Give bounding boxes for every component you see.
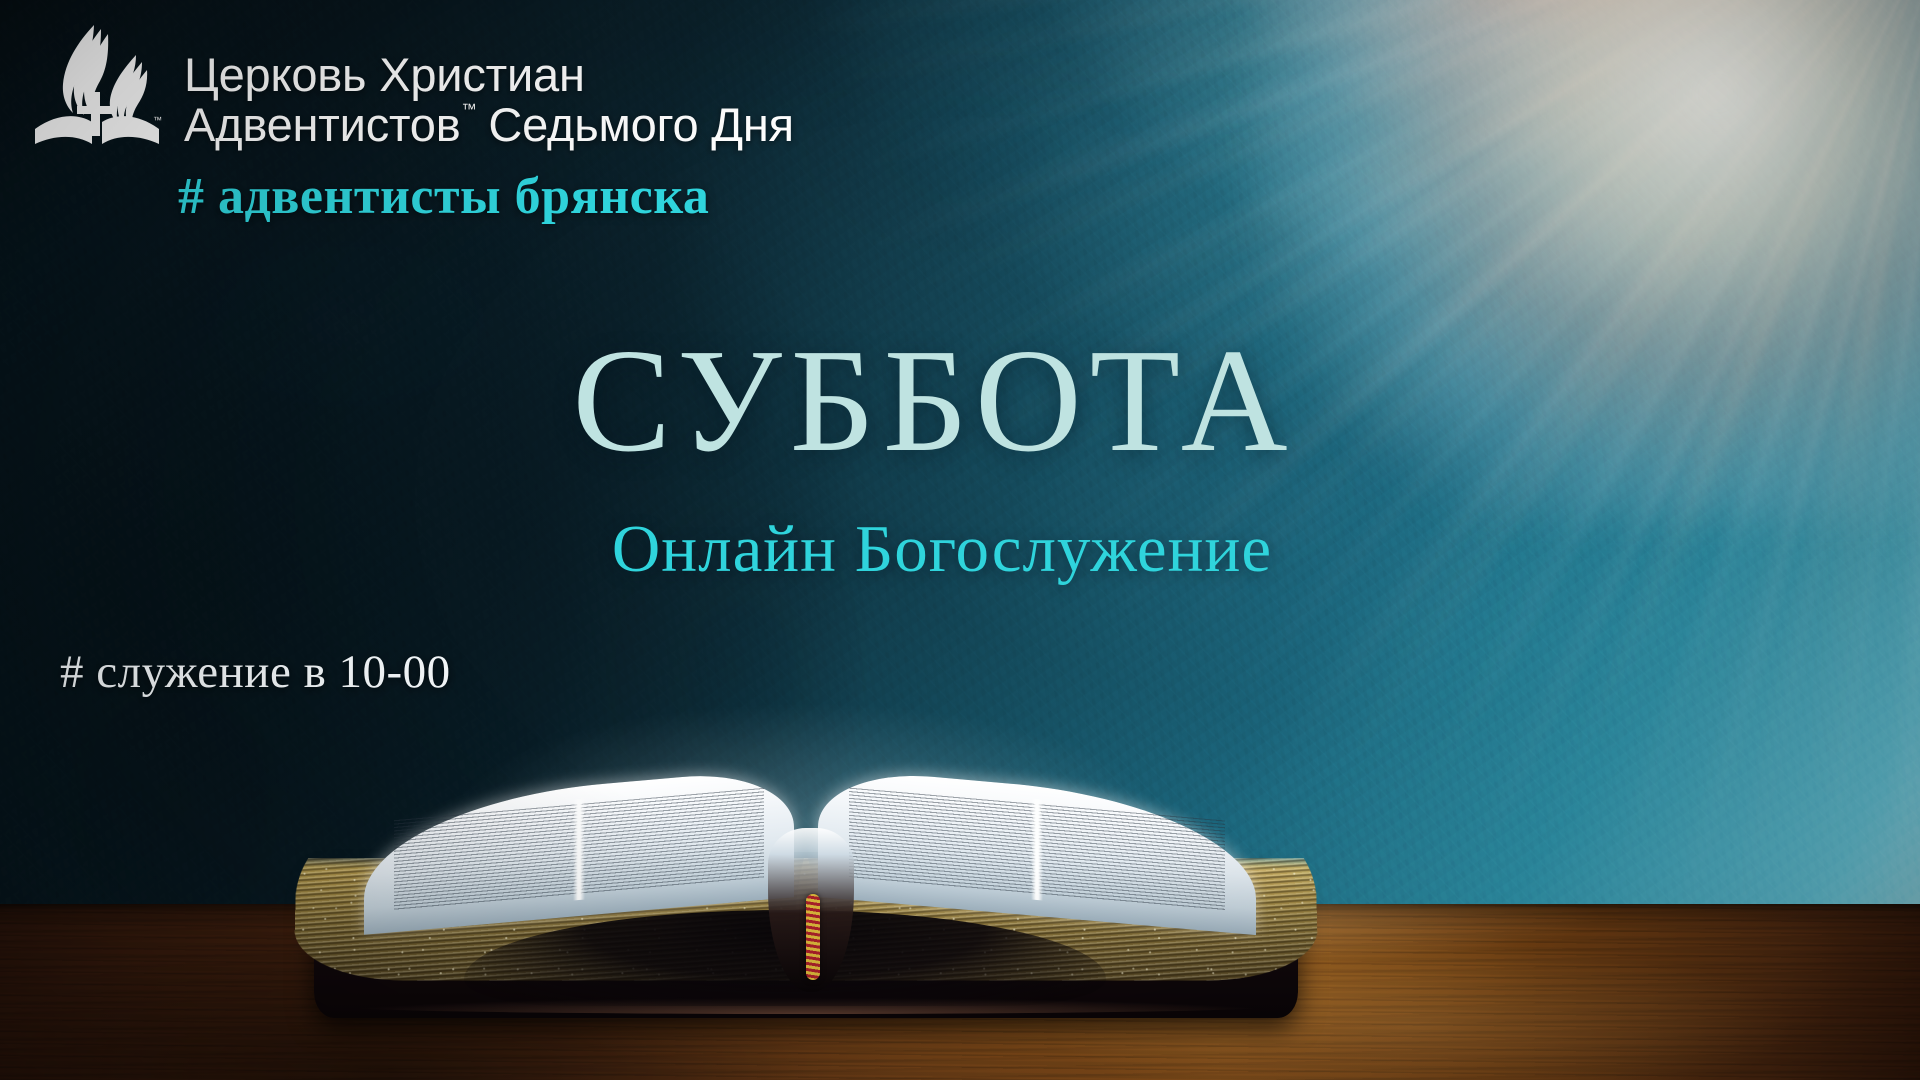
page-title: СУББОТА	[0, 316, 1920, 486]
church-name-line-2-b: Седьмого Дня	[476, 98, 794, 151]
poster-content: ™ Церковь Христиан Адвентистов™ Седьмого…	[0, 0, 1920, 1080]
church-name-line-2-a: Адвентистов	[184, 98, 461, 151]
page-subtitle: Онлайн Богослужение	[0, 511, 1920, 588]
hashtag-community[interactable]: # адвентисты брянска	[178, 167, 709, 226]
hashtag-service-time[interactable]: # служение в 10-00	[60, 645, 451, 699]
church-name-line-1: Церковь Христиан	[184, 50, 794, 100]
church-name: Церковь Христиан Адвентистов™ Седьмого Д…	[184, 22, 794, 151]
logo-trademark-icon: ™	[153, 115, 162, 125]
church-name-line-2: Адвентистов™ Седьмого Дня	[184, 100, 794, 150]
adventist-flame-open-book-logo: ™	[32, 22, 162, 147]
trademark-icon: ™	[462, 101, 477, 118]
church-brand-block: ™ Церковь Христиан Адвентистов™ Седьмого…	[32, 22, 794, 151]
poster-canvas: ™ Церковь Христиан Адвентистов™ Седьмого…	[0, 0, 1920, 1080]
